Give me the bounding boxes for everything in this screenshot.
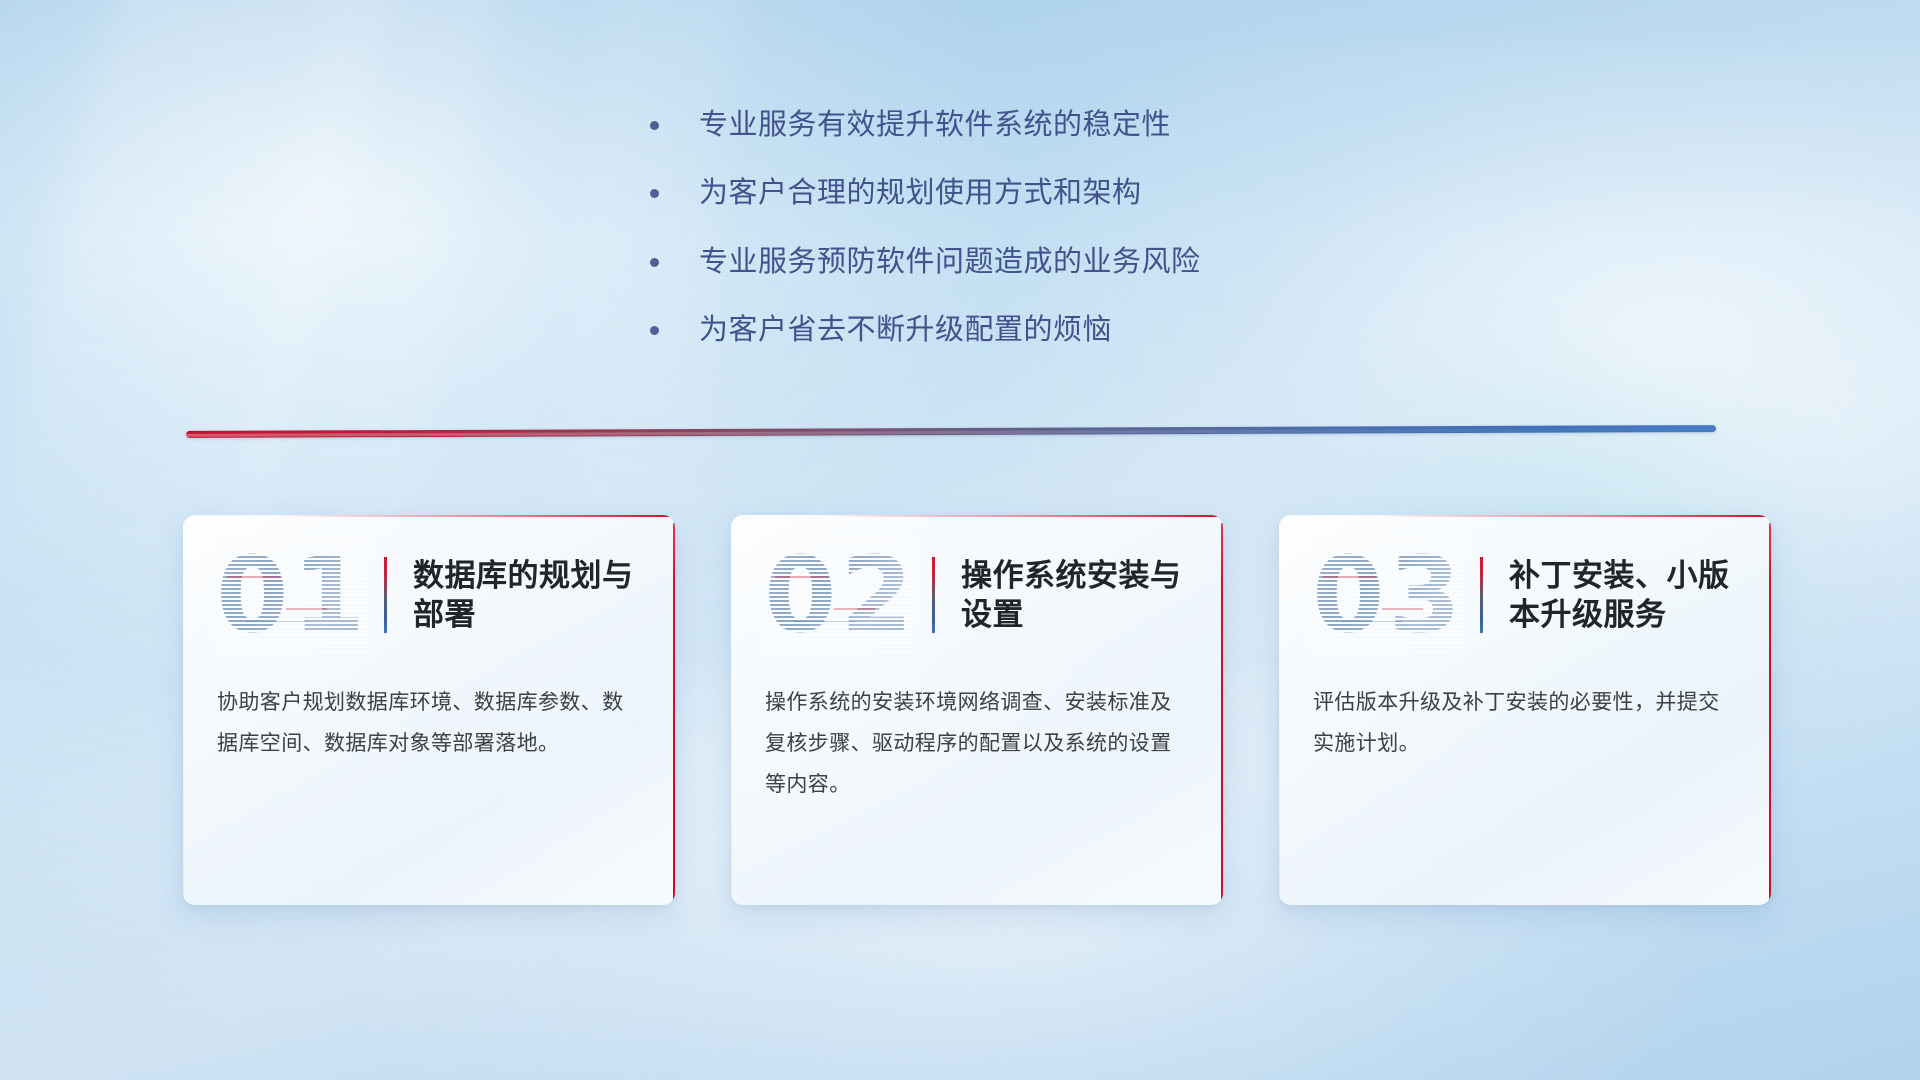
card-number-text: 03 xyxy=(1311,536,1466,654)
bullet-text: 为客户合理的规划使用方式和架构 xyxy=(699,174,1142,212)
watermark-red-slice-2 xyxy=(1382,607,1422,610)
watermark-red-slice-2 xyxy=(286,607,326,610)
card-number-watermark: 01 xyxy=(215,536,370,654)
info-card-3[interactable]: 03 补丁安装、小版本升级服务 评估版本升级及补丁安装的必要性，并提交实施计划。 xyxy=(1279,515,1771,905)
watermark-blue-slice xyxy=(246,621,308,624)
watermark-red-slice-1 xyxy=(775,576,828,579)
card-body-text: 协助客户规划数据库环境、数据库参数、数据库空间、数据库对象等部署落地。 xyxy=(183,683,675,765)
bullet-text: 专业服务有效提升软件系统的稳定性 xyxy=(699,106,1171,144)
card-number-text: 02 xyxy=(763,536,918,654)
card-number-watermark: 03 xyxy=(1311,536,1466,654)
info-card-2[interactable]: 02 操作系统安装与设置 操作系统的安装环境网络调查、安装标准及复核步骤、驱动程… xyxy=(731,515,1223,905)
card-body-text: 操作系统的安装环境网络调查、安装标准及复核步骤、驱动程序的配置以及系统的设置等内… xyxy=(731,683,1223,806)
watermark-blue-slice xyxy=(794,621,856,624)
bullet-dot-icon xyxy=(650,326,659,335)
card-title: 补丁安装、小版本升级服务 xyxy=(1509,556,1739,634)
card-number-watermark: 02 xyxy=(763,536,918,654)
card-header: 01 数据库的规划与部署 xyxy=(183,515,675,675)
card-body-text: 评估版本升级及补丁安装的必要性，并提交实施计划。 xyxy=(1279,683,1771,765)
card-title-divider xyxy=(384,557,387,633)
card-row: 01 数据库的规划与部署 协助客户规划数据库环境、数据库参数、数据库空间、数据库… xyxy=(183,515,1771,905)
bullet-text: 为客户省去不断升级配置的烦恼 xyxy=(699,311,1112,349)
list-item: 专业服务有效提升软件系统的稳定性 xyxy=(650,106,1410,144)
list-item: 专业服务预防软件问题造成的业务风险 xyxy=(650,243,1410,281)
bullet-dot-icon xyxy=(650,189,659,198)
card-number-text: 01 xyxy=(215,536,370,654)
info-card-1[interactable]: 01 数据库的规划与部署 协助客户规划数据库环境、数据库参数、数据库空间、数据库… xyxy=(183,515,675,905)
card-title: 操作系统安装与设置 xyxy=(961,556,1191,634)
card-title-divider xyxy=(1480,557,1483,633)
card-header: 02 操作系统安装与设置 xyxy=(731,515,1223,675)
card-header: 03 补丁安装、小版本升级服务 xyxy=(1279,515,1771,675)
card-title: 数据库的规划与部署 xyxy=(413,556,643,634)
list-item: 为客户合理的规划使用方式和架构 xyxy=(650,174,1410,212)
watermark-red-slice-1 xyxy=(1323,576,1376,579)
card-title-divider xyxy=(932,557,935,633)
watermark-blue-slice xyxy=(1342,621,1404,624)
bullet-text: 专业服务预防软件问题造成的业务风险 xyxy=(699,243,1201,281)
bullet-list: 专业服务有效提升软件系统的稳定性 为客户合理的规划使用方式和架构 专业服务预防软… xyxy=(650,106,1410,379)
watermark-red-slice-1 xyxy=(227,576,280,579)
watermark-red-slice-2 xyxy=(834,607,874,610)
list-item: 为客户省去不断升级配置的烦恼 xyxy=(650,311,1410,349)
bullet-dot-icon xyxy=(650,258,659,267)
bullet-dot-icon xyxy=(650,121,659,130)
